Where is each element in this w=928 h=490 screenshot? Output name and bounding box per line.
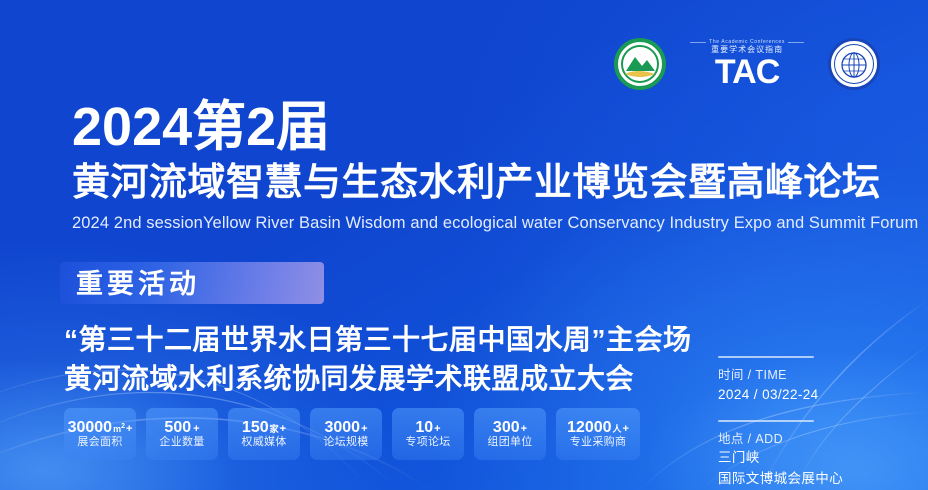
stat-card: 150家+ 权威媒体 [228, 408, 300, 460]
stat-card: 30000m2+ 展会面积 [64, 408, 136, 460]
event-poster: The Academic Conferences 重要学术会议指南 TAC 20… [0, 0, 928, 490]
stat-card: 500+ 企业数量 [146, 408, 218, 460]
stat-label: 企业数量 [159, 437, 204, 448]
stat-label: 论坛规模 [323, 437, 368, 448]
tac-wordmark: TAC [715, 55, 779, 89]
stat-card: 300+ 组团单位 [474, 408, 546, 460]
stat-number: 10+ [415, 420, 440, 436]
stat-number: 300+ [493, 420, 527, 436]
event-line-1: “第三十二届世界水日第三十七届中国水周”主会场 [64, 323, 692, 357]
poster-english-subtitle: 2024 2nd sessionYellow River Basin Wisdo… [72, 214, 918, 234]
stat-card: 3000+ 论坛规模 [310, 408, 382, 460]
event-line-2: 黄河流域水利系统协同发展学术联盟成立大会 [64, 362, 634, 396]
globe-glyph [828, 38, 880, 90]
stat-number: 500+ [164, 420, 199, 436]
address-key: 地点 / ADD [718, 430, 888, 449]
sponsor-logo-row: The Academic Conferences 重要学术会议指南 TAC [614, 38, 880, 90]
time-key: 时间 / TIME [718, 366, 888, 385]
blue-globe-emblem-icon [828, 38, 880, 90]
mountain-glyph [614, 38, 666, 90]
event-info-block: 时间 / TIME 2024 / 03/22-24 地点 / ADD 三门峡 国… [718, 356, 888, 490]
address-line-1: 三门峡 [718, 448, 888, 469]
info-divider [718, 420, 814, 422]
stat-number: 150家+ [242, 420, 286, 436]
tac-logo: The Academic Conferences 重要学术会议指南 TAC [688, 40, 806, 89]
stat-card: 10+ 专项论坛 [392, 408, 464, 460]
poster-year-title: 2024第2届 [72, 100, 330, 154]
stat-number: 12000人+ [567, 420, 629, 436]
stats-row: 30000m2+ 展会面积 500+ 企业数量 150家+ 权威媒体 3000+… [64, 408, 640, 460]
address-line-2: 国际文博城会展中心 [718, 469, 888, 490]
stat-label: 权威媒体 [241, 437, 286, 448]
stat-number: 3000+ [324, 420, 367, 436]
stat-number: 30000m2+ [68, 420, 133, 436]
stat-label: 专项论坛 [405, 437, 450, 448]
info-divider [718, 356, 814, 358]
stat-card: 12000人+ 专业采购商 [556, 408, 640, 460]
time-value: 2024 / 03/22-24 [718, 385, 888, 406]
poster-main-title: 黄河流域智慧与生态水利产业博览会暨高峰论坛 [72, 164, 881, 204]
green-mountain-emblem-icon [614, 38, 666, 90]
important-activity-label: 重要活动 [76, 267, 200, 301]
tac-english-caption: The Academic Conferences [690, 40, 804, 45]
stat-label: 展会面积 [77, 437, 122, 448]
stat-label: 组团单位 [487, 437, 532, 448]
stat-label: 专业采购商 [570, 437, 627, 448]
